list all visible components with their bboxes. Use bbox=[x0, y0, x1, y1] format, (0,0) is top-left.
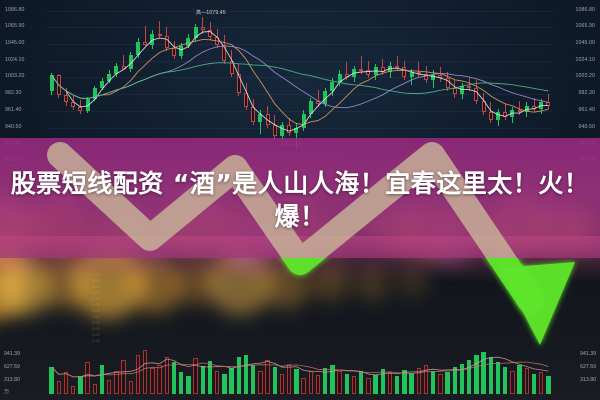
volume-bar bbox=[381, 369, 385, 394]
volume-bar bbox=[359, 371, 363, 394]
volume-bar bbox=[215, 371, 219, 394]
volume-bar bbox=[222, 374, 226, 394]
volume-bar bbox=[489, 357, 493, 394]
volume-bar bbox=[93, 384, 97, 394]
volume-bar bbox=[445, 372, 449, 394]
volume-bar bbox=[294, 369, 298, 394]
volume-bar bbox=[172, 362, 176, 394]
volume-bar bbox=[409, 373, 413, 394]
volume-bar bbox=[417, 368, 421, 394]
high-marker-label: 高—1079.45 bbox=[196, 9, 226, 16]
volume-bar bbox=[431, 371, 435, 394]
volume-bar bbox=[107, 380, 111, 394]
volume-bar bbox=[143, 350, 147, 394]
volume-bar bbox=[323, 368, 327, 394]
volume-bar bbox=[287, 364, 291, 394]
volume-bar bbox=[525, 368, 529, 394]
volume-bar bbox=[186, 376, 190, 394]
volume-tick-label: 627.59 bbox=[4, 365, 20, 370]
volume-bar bbox=[438, 374, 442, 394]
volume-bar bbox=[474, 355, 478, 394]
volume-bar bbox=[309, 371, 313, 394]
screenshot-root: 1086.801065.901045.001024.101003.20982.3… bbox=[0, 0, 600, 400]
volume-unit-label: 万 bbox=[4, 390, 9, 395]
volume-bar bbox=[265, 360, 269, 394]
volume-bar bbox=[539, 372, 543, 394]
volume-bar bbox=[496, 362, 500, 394]
volume-bar bbox=[352, 376, 356, 394]
volume-bar bbox=[532, 374, 536, 394]
volume-bar bbox=[503, 367, 507, 394]
volume-bar bbox=[179, 372, 183, 394]
volume-bar bbox=[345, 374, 349, 394]
volume-bar bbox=[136, 355, 140, 394]
volume-bar bbox=[273, 367, 277, 394]
volume-tick-label: 941.39 bbox=[4, 352, 20, 357]
volume-bar bbox=[114, 371, 118, 394]
volume-bar bbox=[510, 371, 514, 394]
volume-bar bbox=[165, 357, 169, 394]
volume-bar bbox=[57, 381, 61, 394]
volume-bar bbox=[237, 357, 241, 394]
volume-tick-label: 941.39 bbox=[580, 352, 596, 357]
volume-bar bbox=[129, 381, 133, 394]
volume-bar bbox=[424, 365, 428, 394]
volume-bar bbox=[258, 371, 262, 394]
volume-bar bbox=[121, 360, 125, 394]
volume-tick-label: 313.80 bbox=[4, 378, 20, 383]
volume-bar bbox=[78, 376, 82, 394]
volume-bar bbox=[460, 364, 464, 394]
volume-bar bbox=[251, 365, 255, 394]
volume-bar bbox=[229, 368, 233, 394]
volume-bar bbox=[546, 376, 550, 394]
volume-bar bbox=[402, 370, 406, 394]
volume-bar bbox=[388, 372, 392, 394]
volume-bar bbox=[453, 367, 457, 394]
volume-bar bbox=[517, 365, 521, 394]
volume-bar bbox=[280, 374, 284, 394]
volume-bar bbox=[201, 366, 205, 394]
volume-bar bbox=[395, 376, 399, 394]
volume-bar bbox=[316, 375, 320, 394]
volume-bar bbox=[366, 378, 370, 394]
volume-tick-label: 313.80 bbox=[580, 378, 596, 383]
volume-bar bbox=[301, 378, 305, 394]
volume-bar bbox=[193, 358, 197, 394]
volume-bar bbox=[85, 362, 89, 394]
volume-bar bbox=[49, 367, 53, 394]
candle-body bbox=[546, 102, 550, 105]
volume-bar bbox=[337, 371, 341, 394]
volume-bar bbox=[157, 365, 161, 394]
page-headline: 股票短线配资 “酒”是人山人海！宜春这里太！火！爆！ bbox=[0, 167, 600, 233]
volume-bar bbox=[467, 360, 471, 394]
volume-bar bbox=[330, 365, 334, 394]
volume-bar bbox=[373, 375, 377, 394]
volume-bar bbox=[244, 355, 248, 394]
volume-bar bbox=[100, 365, 104, 394]
volume-bar bbox=[64, 372, 68, 394]
volume-tick-label: 627.59 bbox=[580, 365, 596, 370]
volume-bar bbox=[71, 386, 75, 394]
volume-bar bbox=[150, 368, 154, 394]
volume-bar bbox=[208, 361, 212, 394]
magenta-band-glow bbox=[0, 236, 600, 282]
volume-bar bbox=[481, 352, 485, 394]
